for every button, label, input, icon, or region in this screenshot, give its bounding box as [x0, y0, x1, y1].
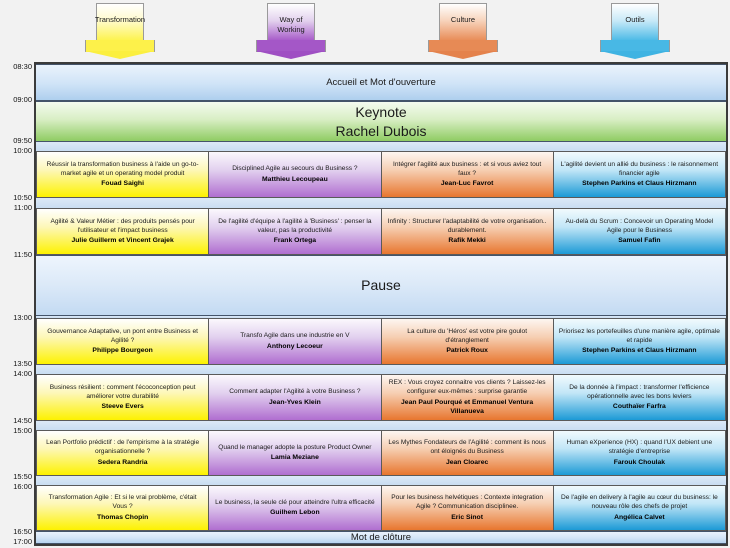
session-speaker: Patrick Roux — [446, 346, 488, 355]
session-title: Comment adapter l'Agilité à votre Busine… — [229, 388, 360, 397]
session-speaker: Stephen Parkins et Claus Hirzmann — [582, 179, 696, 188]
time-label-1500: 15:00 — [0, 427, 32, 435]
arrow-head — [600, 40, 670, 59]
session-speaker: Angélica Calvet — [614, 513, 665, 522]
grid-gap — [36, 365, 726, 374]
session-speaker: Fouad Saighi — [101, 179, 144, 188]
session-speaker: Thomas Chopin — [97, 513, 148, 522]
session-row-1600: Transformation Agile : Et si le vrai pro… — [36, 485, 726, 531]
session-speaker: Philippe Bourgeon — [92, 346, 152, 355]
session-speaker: Jean Paul Pourqué et Emmanuel Ventura Vi… — [387, 398, 548, 416]
grid-gap — [36, 421, 726, 430]
session-title: Priorisez les portefeuilles d'une manièr… — [559, 328, 720, 345]
session-cell[interactable]: De l'agilité d'équipe à l'agilité à 'Bus… — [209, 208, 381, 255]
session-closing[interactable]: Mot de clôture — [36, 531, 726, 544]
session-cell[interactable]: Lean Portfolio prédictif : de l'empirism… — [36, 430, 209, 476]
arrow-head — [428, 40, 498, 59]
session-row-1100: Agilité & Valeur Métier : des produits p… — [36, 208, 726, 255]
session-speaker: Samuel Fafin — [618, 236, 660, 245]
agenda-grid: Accueil et Mot d'ouverture Keynote Rache… — [34, 62, 728, 546]
grid-gap — [36, 142, 726, 151]
session-cell[interactable]: Gouvernance Adaptative, un pont entre Bu… — [36, 318, 209, 365]
session-cell[interactable]: Agilité & Valeur Métier : des produits p… — [36, 208, 209, 255]
session-title: Les Mythes Fondateurs de l'Agilité : com… — [387, 439, 548, 456]
time-label-1350: 13:50 — [0, 360, 32, 368]
session-cell[interactable]: De la donnée à l'impact : transformer l'… — [554, 374, 726, 421]
session-cell[interactable]: Human eXperience (HX) : quand l'UX debie… — [554, 430, 726, 476]
session-speaker: Frank Ortega — [274, 236, 316, 245]
session-cell[interactable]: Intégrer l'agilité aux business : et si … — [382, 151, 554, 198]
session-cell[interactable]: Pour les business helvétiques : Contexte… — [382, 485, 554, 531]
time-label-1700: 17:00 — [0, 538, 32, 546]
session-cell[interactable]: Priorisez les portefeuilles d'une manièr… — [554, 318, 726, 365]
arrow-head — [85, 40, 155, 59]
session-title: Agilité & Valeur Métier : des produits p… — [42, 218, 203, 235]
session-speaker: Eric Sinot — [451, 513, 483, 522]
session-cell[interactable]: Réussir la transformation business à l'a… — [36, 151, 209, 198]
track-arrow-culture[interactable]: Culture — [428, 3, 498, 59]
arrow-head — [256, 40, 326, 59]
session-title: La culture du 'Héros' est votre pire gou… — [387, 328, 548, 345]
session-title: Infinity : Structurer l'adaptabilité de … — [387, 218, 548, 235]
track-header-row: Transformation Way ofWorking Culture Out… — [0, 0, 730, 62]
session-title: REX : Vous croyez connaitre vos clients … — [387, 379, 548, 396]
session-cell[interactable]: Disciplined Agile au secours du Business… — [209, 151, 381, 198]
time-label-1100: 11:00 — [0, 204, 32, 212]
session-cell[interactable]: De l'agile en delivery à l'agile au cœur… — [554, 485, 726, 531]
session-row-1500: Lean Portfolio prédictif : de l'empirism… — [36, 430, 726, 476]
track-arrow-way-of-working[interactable]: Way ofWorking — [256, 3, 326, 59]
session-title: Le business, la seule clé pour atteindre… — [215, 499, 374, 508]
session-title: De la donnée à l'impact : transformer l'… — [559, 384, 720, 401]
session-title: Disciplined Agile au secours du Business… — [232, 165, 357, 174]
session-title: Pour les business helvétiques : Contexte… — [387, 494, 548, 511]
session-row-1400: Business résilient : comment l'écoconcep… — [36, 374, 726, 421]
track-label-way-of-working: Way ofWorking — [256, 15, 326, 34]
session-title: Transfo Agile dans une industrie en V — [240, 332, 349, 341]
session-speaker: Jean-Luc Favrot — [441, 179, 494, 188]
time-label-1550: 15:50 — [0, 473, 32, 481]
session-title: Transformation Agile : Et si le vrai pro… — [42, 494, 203, 511]
pause-label: Pause — [361, 276, 401, 295]
session-speaker: Anthony Lecoeur — [267, 342, 323, 351]
session-cell[interactable]: L'agilité devient un allié du business :… — [554, 151, 726, 198]
conference-agenda-page: Transformation Way ofWorking Culture Out… — [0, 0, 730, 548]
session-title: De l'agile en delivery à l'agile au cœur… — [559, 494, 720, 511]
time-label-1050: 10:50 — [0, 194, 32, 202]
session-cell[interactable]: La culture du 'Héros' est votre pire gou… — [382, 318, 554, 365]
track-arrow-outils[interactable]: Outils — [600, 3, 670, 59]
grid-gap — [36, 198, 726, 208]
session-row-1000: Réussir la transformation business à l'a… — [36, 151, 726, 198]
session-cell[interactable]: Quand le manager adopte la posture Produ… — [209, 430, 381, 476]
session-title: Intégrer l'agilité aux business : et si … — [387, 161, 548, 178]
session-speaker: Couthaïer Farfra — [613, 402, 666, 411]
session-speaker: Jean Cloarec — [446, 458, 488, 467]
session-title: Human eXperience (HX) : quand l'UX debie… — [559, 439, 720, 456]
session-title: De l'agilité d'équipe à l'agilité à 'Bus… — [214, 218, 375, 235]
session-title: Au-delà du Scrum : Concevoir un Operatin… — [559, 218, 720, 235]
session-speaker: Steeve Evers — [101, 402, 143, 411]
time-label-0950: 09:50 — [0, 137, 32, 145]
session-cell[interactable]: Transfo Agile dans une industrie en V An… — [209, 318, 381, 365]
session-title: Gouvernance Adaptative, un pont entre Bu… — [42, 328, 203, 345]
keynote-speaker: Rachel Dubois — [335, 122, 426, 141]
time-label-1400: 14:00 — [0, 370, 32, 378]
session-speaker: Lamia Meziane — [271, 453, 319, 462]
session-cell[interactable]: Au-delà du Scrum : Concevoir un Operatin… — [554, 208, 726, 255]
time-label-1000: 10:00 — [0, 147, 32, 155]
session-cell[interactable]: Le business, la seule clé pour atteindre… — [209, 485, 381, 531]
session-cell[interactable]: REX : Vous croyez connaitre vos clients … — [382, 374, 554, 421]
session-title: Réussir la transformation business à l'a… — [42, 161, 203, 178]
session-speaker: Farouk Choulak — [614, 458, 665, 467]
session-cell[interactable]: Les Mythes Fondateurs de l'Agilité : com… — [382, 430, 554, 476]
session-speaker: Jean-Yves Klein — [269, 398, 321, 407]
track-label-culture: Culture — [428, 15, 498, 25]
session-title: Business résilient : comment l'écoconcep… — [42, 384, 203, 401]
welcome-label: Accueil et Mot d'ouverture — [326, 77, 436, 88]
session-speaker: Stephen Parkins et Claus Hirzmann — [582, 346, 696, 355]
session-keynote[interactable]: Keynote Rachel Dubois — [36, 101, 726, 142]
time-label-1450: 14:50 — [0, 417, 32, 425]
session-speaker: Sedera Randria — [98, 458, 148, 467]
keynote-title: Keynote — [355, 103, 406, 122]
session-title: Lean Portfolio prédictif : de l'empirism… — [42, 439, 203, 456]
time-label-1300: 13:00 — [0, 314, 32, 322]
session-title: Quand le manager adopte la posture Produ… — [218, 444, 371, 453]
session-cell[interactable]: Infinity : Structurer l'adaptabilité de … — [382, 208, 554, 255]
track-arrow-transformation[interactable]: Transformation — [85, 3, 155, 59]
time-label-1650: 16:50 — [0, 528, 32, 536]
grid-gap — [36, 476, 726, 485]
session-speaker: Matthieu Lecoupeau — [262, 175, 328, 184]
session-cell[interactable]: Comment adapter l'Agilité à votre Busine… — [209, 374, 381, 421]
time-label-0900: 09:00 — [0, 96, 32, 104]
session-cell[interactable]: Business résilient : comment l'écoconcep… — [36, 374, 209, 421]
time-label-0830: 08:30 — [0, 63, 32, 71]
session-cell[interactable]: Transformation Agile : Et si le vrai pro… — [36, 485, 209, 531]
time-label-1600: 16:00 — [0, 483, 32, 491]
track-label-outils: Outils — [600, 15, 670, 25]
session-speaker: Julie Guillerm et Vincent Grajek — [72, 236, 174, 245]
closing-label: Mot de clôture — [351, 532, 411, 543]
session-row-1300: Gouvernance Adaptative, un pont entre Bu… — [36, 318, 726, 365]
session-speaker: Rafik Mekki — [448, 236, 485, 245]
session-title: L'agilité devient un allié du business :… — [559, 161, 720, 178]
session-pause[interactable]: Pause — [36, 255, 726, 316]
session-speaker: Guilhem Lebon — [270, 508, 319, 517]
track-label-transformation: Transformation — [85, 15, 155, 25]
session-welcome[interactable]: Accueil et Mot d'ouverture — [36, 64, 726, 101]
time-label-1150: 11:50 — [0, 251, 32, 259]
